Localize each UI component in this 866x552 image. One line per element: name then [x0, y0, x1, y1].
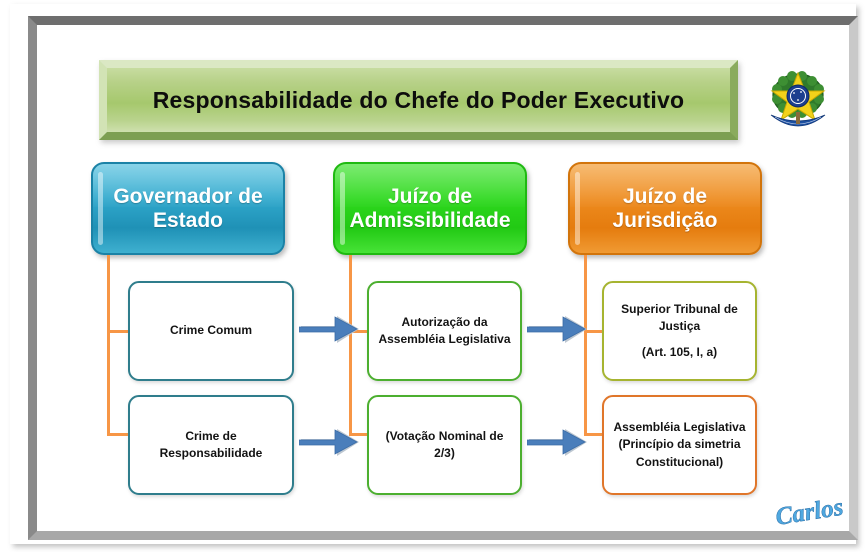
signature-text: Carlos [774, 495, 845, 531]
arrow-right-icon [299, 426, 362, 460]
column-header-admissibilidade[interactable]: Juízo de Admissibilidade [333, 162, 527, 255]
slide-title-plate: Responsabilidade do Chefe do Poder Execu… [99, 60, 738, 140]
connector-branch-crime-comum [107, 330, 130, 333]
slide-title-text: Responsabilidade do Chefe do Poder Execu… [153, 87, 685, 114]
node-label: Crime Comum [161, 322, 261, 339]
node-label: Superior Tribunal de Justiça (Art. 105, … [604, 301, 755, 361]
node-label: (Votação Nominal de 2/3) [369, 428, 520, 462]
slide-outer-shadow: Responsabilidade do Chefe do Poder Execu… [10, 4, 856, 544]
node-autorizacao-assembleia[interactable]: Autorização da Assembléia Legislativa [367, 281, 522, 381]
slide-frame: Responsabilidade do Chefe do Poder Execu… [0, 0, 866, 552]
connector-vertical-governador [107, 255, 110, 435]
column-header-governador[interactable]: Governador de Estado [91, 162, 285, 255]
node-assembleia-legislativa[interactable]: Assembléia Legislativa (Princípio da sim… [602, 395, 757, 495]
node-label-sub: (Art. 105, I, a) [613, 344, 746, 361]
node-votacao-nominal[interactable]: (Votação Nominal de 2/3) [367, 395, 522, 495]
column-header-label: Governador de Estado [93, 185, 283, 232]
arrow-right-icon [527, 313, 590, 347]
arrow-right-icon [299, 313, 362, 347]
slide-canvas: Responsabilidade do Chefe do Poder Execu… [37, 25, 849, 531]
node-crime-responsabilidade[interactable]: Crime de Responsabilidade [128, 395, 294, 495]
node-crime-comum[interactable]: Crime Comum [128, 281, 294, 381]
brazil-coat-of-arms-icon [767, 65, 829, 133]
node-label: Autorização da Assembléia Legislativa [369, 314, 520, 348]
column-header-jurisdicao[interactable]: Juízo de Jurisdição [568, 162, 762, 255]
column-header-label: Juízo de Jurisdição [570, 185, 760, 232]
node-superior-tribunal-justica[interactable]: Superior Tribunal de Justiça (Art. 105, … [602, 281, 757, 381]
column-header-label: Juízo de Admissibilidade [335, 185, 525, 232]
node-label-main: Superior Tribunal de Justiça [621, 302, 738, 333]
signature-carlos: Carlos [771, 495, 849, 531]
node-label: Crime de Responsabilidade [130, 428, 292, 462]
arrow-right-icon [527, 426, 590, 460]
node-label: Assembléia Legislativa (Princípio da sim… [604, 419, 755, 470]
connector-branch-crime-responsabilidade [107, 433, 130, 436]
